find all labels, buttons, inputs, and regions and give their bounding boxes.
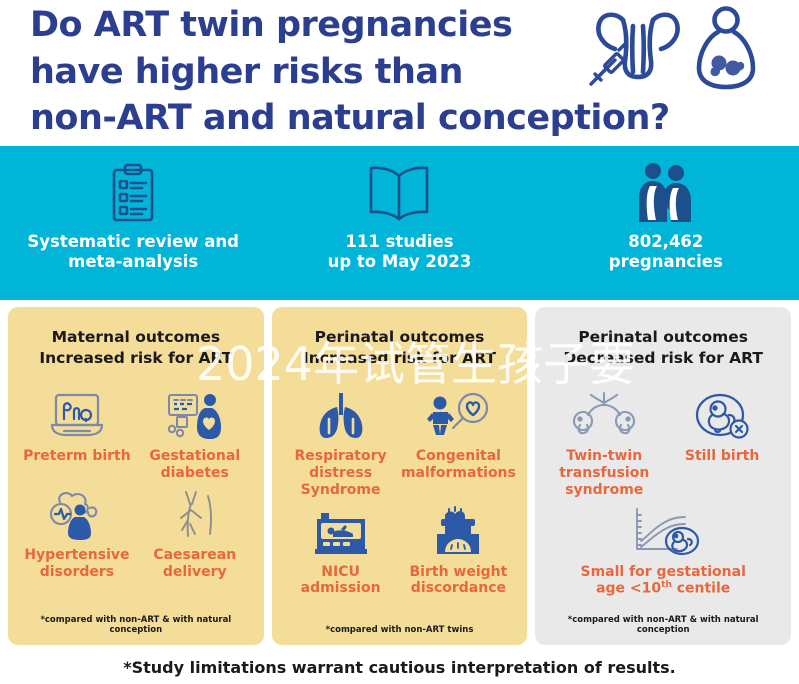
outcome-preterm-birth: Preterm birth (18, 385, 136, 484)
panel-footnote-maternal: *compared with non-ART & with natural co… (18, 615, 254, 637)
header: Do ART twin pregnancies have higher risk… (0, 0, 799, 146)
outcome-label-birth-weight-discordance: Birth weight discordance (410, 564, 508, 598)
title-line-1: Do ART twin pregnancies (30, 2, 595, 49)
outcome-label-small-for-gestational-age: Small for gestational age <10th centile (580, 564, 745, 598)
sga-label-suffix: centile (672, 581, 730, 597)
panel-perinatal-decreased-risk: Perinatal outcomes Decreased risk for AR… (535, 307, 791, 645)
twin-fetuses-placenta-icon (569, 389, 639, 441)
clipboard-checklist-icon (107, 162, 159, 224)
stat-label-systematic-review: Systematic review and meta-analysis (27, 232, 239, 272)
fetus-cross-icon (693, 389, 751, 441)
outcome-label-preterm-birth: Preterm birth (23, 448, 131, 465)
page-title: Do ART twin pregnancies have higher risk… (30, 2, 595, 142)
two-pregnant-people-icon (635, 162, 697, 224)
outcome-birth-weight-discordance: Birth weight discordance (400, 501, 518, 600)
open-book-icon (366, 162, 432, 224)
outcome-gestational-diabetes: Gestational diabetes (136, 385, 254, 484)
header-icon-group (585, 6, 785, 92)
outcome-congenital-malformations: Congenital malformations (400, 385, 518, 500)
outcome-small-for-gestational-age: Small for gestational age <10th centile (545, 501, 781, 600)
footer: *Study limitations warrant cautious inte… (0, 651, 799, 684)
panel-maternal-increased-risk: Maternal outcomes Increased risk for ART (8, 307, 264, 645)
panel-grid-perinatal-increased: Respiratory distress Syndrome (282, 375, 518, 625)
panel-footnote-perinatal-decreased: *compared with non-ART & with natural co… (545, 615, 781, 637)
panel-title-perinatal-increased: Perinatal outcomes Increased risk for AR… (282, 327, 518, 369)
stat-label-pregnancies: 802,462 pregnancies (609, 232, 723, 272)
panel-grid-maternal: Preterm birth (18, 375, 254, 615)
stats-band: Systematic review and meta-analysis 111 … (0, 146, 799, 300)
outcome-hypertensive-disorders: Hypertensive disorders (18, 484, 136, 583)
outcome-label-twin-twin-transfusion-syndrome: Twin-twin transfusion syndrome (559, 448, 649, 498)
outcome-label-respiratory-distress-syndrome: Respiratory distress Syndrome (284, 448, 398, 498)
panel-perinatal-increased-risk: Perinatal outcomes Increased risk for AR… (272, 307, 528, 645)
growth-chart-fetus-icon (621, 505, 705, 557)
outcome-respiratory-distress-syndrome: Respiratory distress Syndrome (282, 385, 400, 500)
uterus-syringe-icon (585, 6, 689, 92)
panel-title-perinatal-decreased: Perinatal outcomes Decreased risk for AR… (545, 327, 781, 369)
caesarean-incision-icon (168, 488, 222, 540)
infographic-page: Do ART twin pregnancies have higher risk… (0, 0, 799, 684)
outcome-label-gestational-diabetes: Gestational diabetes (149, 448, 240, 482)
pregnant-person-twins-icon (695, 6, 757, 92)
outcome-label-caesarean-delivery: Caesarean delivery (153, 547, 236, 581)
outcome-label-hypertensive-disorders: Hypertensive disorders (24, 547, 129, 581)
incubator-icon (311, 505, 371, 557)
sga-label-superscript: th (661, 580, 672, 590)
outcome-label-congenital-malformations: Congenital malformations (401, 448, 516, 482)
lungs-icon (313, 389, 369, 441)
panel-grid-perinatal-decreased: Twin-twin transfusion syndrome (545, 375, 781, 615)
outcome-nicu-admission: NICU admission (282, 501, 400, 600)
stat-item-systematic-review: Systematic review and meta-analysis (0, 146, 266, 300)
outcome-label-nicu-admission: NICU admission (284, 564, 398, 598)
baby-heart-magnifier-icon (426, 389, 490, 441)
blood-pressure-pregnant-icon (46, 488, 108, 540)
stat-item-pregnancies: 802,462 pregnancies (533, 146, 799, 300)
stat-label-studies: 111 studies up to May 2023 (328, 232, 472, 272)
outcome-label-still-birth: Still birth (685, 448, 759, 465)
panel-footnote-perinatal-increased: *compared with non-ART twins (282, 625, 518, 637)
panel-title-maternal: Maternal outcomes Increased risk for ART (18, 327, 254, 369)
footer-note: *Study limitations warrant cautious inte… (123, 658, 676, 677)
baby-weighing-scale-icon (431, 505, 485, 557)
outcome-still-birth: Still birth (663, 385, 781, 500)
outcome-panels: Maternal outcomes Increased risk for ART (0, 307, 799, 645)
glucose-monitor-pregnant-icon (165, 389, 225, 441)
outcome-caesarean-delivery: Caesarean delivery (136, 484, 254, 583)
outcome-twin-twin-transfusion-syndrome: Twin-twin transfusion syndrome (545, 385, 663, 500)
ultrasound-monitor-icon (48, 389, 106, 441)
stat-item-studies: 111 studies up to May 2023 (266, 146, 532, 300)
title-line-3: non-ART and natural conception? (30, 95, 595, 142)
title-line-2: have higher risks than (30, 49, 595, 96)
